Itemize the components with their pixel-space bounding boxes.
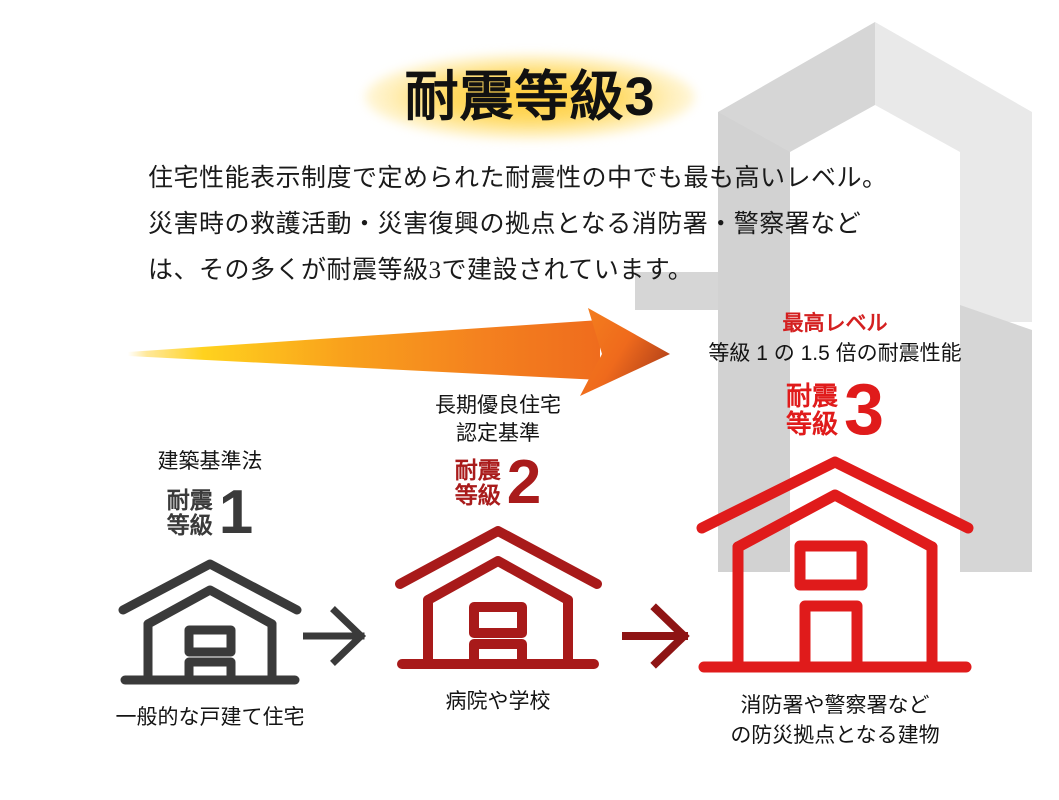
grade-1-rank-kanji: 耐震 等級 [167,488,213,538]
grade-3-rank: 耐震 等級 3 [690,374,980,446]
grade-2-standard-label-line2: 認定基準 [378,420,618,448]
grade-3-note-label: 等級 1 の 1.5 倍の耐震性能 [690,340,980,368]
grade-2-rank-kanji-line2: 等級 [455,483,501,508]
grade-2-rank: 耐震 等級 2 [378,452,618,514]
grade-3-group: 最高レベル 等級 1 の 1.5 倍の耐震性能 耐震 等級 3 [690,310,980,751]
grade-1-rank-number: 1 [219,482,253,544]
slide-canvas: 耐震等級3 住宅性能表示制度で定められた耐震性の中でも最も高いレベル。 災害時の… [0,0,1059,800]
intro-line-2: 災害時の救護活動・災害復興の拠点となる消防署・警察署など [148,202,948,248]
grade-3-house [690,450,980,691]
grade-3-caption-line1: 消防署や警察署など [690,691,980,721]
page-title: 耐震等級3 [330,52,730,142]
grade-1-house [100,552,320,697]
step-arrow-1-to-2-icon [303,605,373,667]
grade-3-rank-kanji-line2: 等級 [786,410,838,438]
grade-3-rank-number: 3 [844,374,884,446]
grade-1-rank-kanji-line2: 等級 [167,513,213,538]
intro-paragraph: 住宅性能表示制度で定められた耐震性の中でも最も高いレベル。 災害時の救護活動・災… [148,156,948,294]
step-arrow-2-to-3-icon [622,603,698,669]
grade-3-highlight-label: 最高レベル [690,310,980,338]
grade-1-rank-kanji-line1: 耐震 [167,488,213,513]
progress-arrow-icon [110,300,690,400]
page-title-text: 耐震等級3 [330,52,730,142]
grade-3-caption-line2: の防災拠点となる建物 [690,721,980,751]
house-icon [692,450,978,686]
grade-3-rank-kanji-line1: 耐震 [786,382,838,410]
intro-line-1: 住宅性能表示制度で定められた耐震性の中でも最も高いレベル。 [148,156,948,202]
house-icon [391,518,606,678]
grade-1-standard-label: 建築基準法 [100,448,320,476]
house-icon [115,552,305,692]
grade-2-rank-kanji: 耐震 等級 [455,458,501,508]
grade-3-rank-kanji: 耐震 等級 [786,382,838,438]
grade-1-caption: 一般的な戸建て住宅 [100,703,320,733]
grade-2-rank-number: 2 [507,452,541,514]
grade-2-standard-label-line1: 長期優良住宅 [378,392,618,420]
grade-2-caption: 病院や学校 [378,687,618,717]
grade-2-group: 長期優良住宅 認定基準 耐震 等級 2 病院や学校 [378,392,618,717]
grade-1-group: 建築基準法 耐震 等級 1 一般的な戸建て住宅 [100,448,320,733]
grade-2-house [378,518,618,683]
intro-line-3: は、その多くが耐震等級3で建設されています。 [148,248,948,294]
grade-1-rank: 耐震 等級 1 [100,482,320,544]
grade-2-rank-kanji-line1: 耐震 [455,458,501,483]
